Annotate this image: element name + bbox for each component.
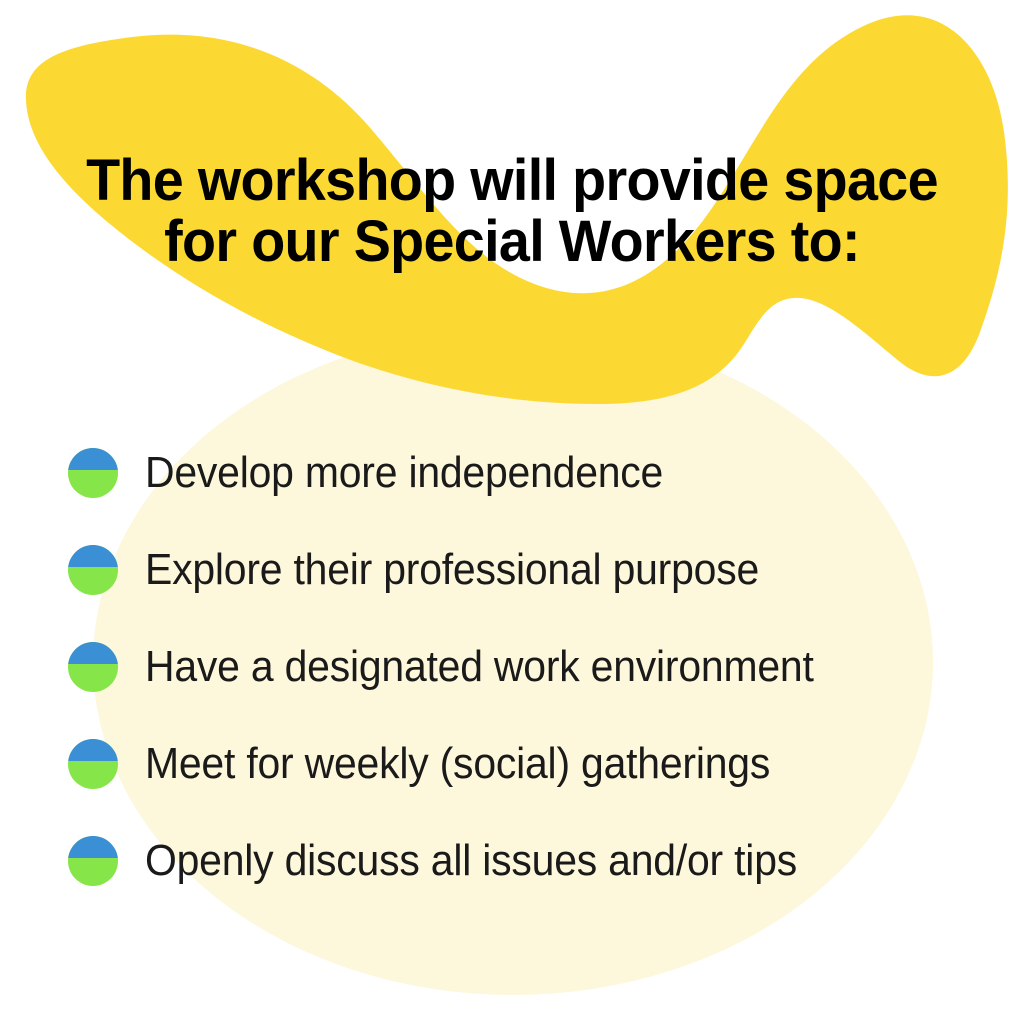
poster-canvas: The workshop will provide space for our … [0,0,1024,1024]
list-item-label: Have a designated work environment [145,645,814,689]
list-item-label: Meet for weekly (social) gatherings [145,742,770,786]
half-circle-bullet-icon [68,642,118,692]
half-circle-bullet-icon [68,836,118,886]
half-circle-bullet-icon [68,448,118,498]
list-item: Openly discuss all issues and/or tips [0,812,1024,909]
list-item: Explore their professional purpose [0,521,1024,618]
list-item-label: Openly discuss all issues and/or tips [145,839,797,883]
list-item: Meet for weekly (social) gatherings [0,715,1024,812]
heading-block: The workshop will provide space for our … [0,150,1024,273]
page-title: The workshop will provide space for our … [49,150,974,273]
list-item-label: Develop more independence [145,451,663,495]
list-item-label: Explore their professional purpose [145,548,759,592]
list-item: Have a designated work environment [0,618,1024,715]
half-circle-bullet-icon [68,739,118,789]
list-item: Develop more independence [0,424,1024,521]
benefits-list: Develop more independence Explore their … [0,424,1024,909]
half-circle-bullet-icon [68,545,118,595]
